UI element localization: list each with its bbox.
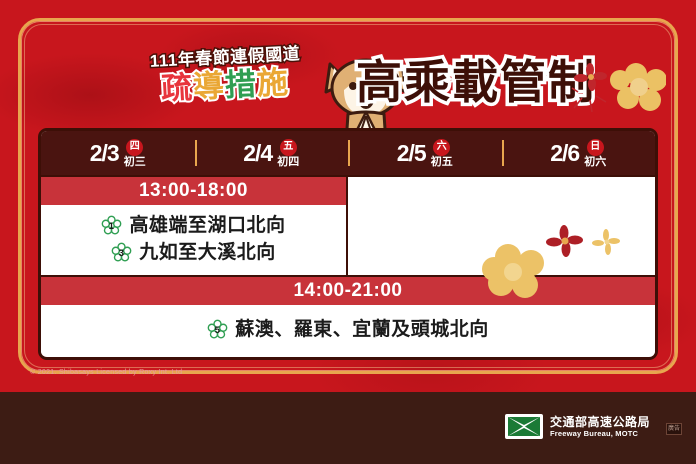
title-group-left: 111年春節連假國道 疏導措施 bbox=[130, 48, 320, 103]
date-cell-1: 2/4 五 初四 bbox=[195, 131, 349, 175]
svg-text:5: 5 bbox=[215, 325, 221, 336]
agency-logo-text: 交通部高速公路局 Freeway Bureau, MOTC bbox=[550, 415, 650, 439]
route-item: 5 蘇澳、羅東、宜蘭及頭城北向 bbox=[41, 316, 655, 343]
route-label: 高雄端至湖口北向 bbox=[129, 212, 285, 239]
poster-header: 111年春節連假國道 疏導措施 高乘載管制 bbox=[26, 26, 670, 126]
ad-badge: 廣告 bbox=[666, 423, 682, 435]
agency-logo: 交通部高速公路局 Freeway Bureau, MOTC bbox=[505, 414, 650, 439]
svg-text:3: 3 bbox=[119, 248, 125, 259]
poster-background: 111年春節連假國道 疏導措施 高乘載管制 bbox=[0, 0, 696, 392]
weekday-badge: 四 bbox=[126, 139, 143, 156]
date-number: 2/3 bbox=[90, 140, 119, 167]
routes-row-one: 1 高雄端至湖口北向 3 九如至大溪北向 bbox=[41, 205, 655, 275]
date-cell-2: 2/5 六 初五 bbox=[348, 131, 502, 175]
copyright-notice: © 2021. Shibasays Licensed by Roxy Int. … bbox=[30, 369, 182, 376]
weekday-badge: 五 bbox=[280, 139, 297, 156]
agency-name-zh: 交通部高速公路局 bbox=[550, 415, 650, 429]
routes-list-two: 5 蘇澳、羅東、宜蘭及頭城北向 bbox=[41, 305, 655, 356]
lunar-date: 初五 bbox=[431, 157, 453, 168]
date-meta: 日 初六 bbox=[584, 139, 606, 168]
lunar-date: 初六 bbox=[584, 157, 606, 168]
route-item: 3 九如至大溪北向 bbox=[41, 239, 346, 266]
lunar-date: 初三 bbox=[124, 157, 146, 168]
weekday-badge: 六 bbox=[433, 139, 450, 156]
svg-text:1: 1 bbox=[109, 221, 115, 232]
route-label: 九如至大溪北向 bbox=[139, 239, 276, 266]
plum-blossom-decor-icon bbox=[476, 223, 626, 301]
routes-list-one: 1 高雄端至湖口北向 3 九如至大溪北向 bbox=[41, 205, 348, 275]
restriction-section-one: 13:00-18:00 1 高雄端至湖口北向 bbox=[41, 175, 655, 275]
date-cell-0: 2/3 四 初三 bbox=[41, 131, 195, 175]
route-label: 蘇澳、羅東、宜蘭及頭城北向 bbox=[235, 316, 489, 343]
title-char-4: 施 bbox=[256, 65, 290, 102]
poster-main-title: 高乘載管制 bbox=[356, 54, 596, 110]
plum-blossom-decor-icon bbox=[570, 52, 666, 122]
time-band-one: 13:00-18:00 bbox=[41, 177, 348, 205]
route-number-badge-icon: 1 bbox=[101, 215, 122, 236]
footer-bar: 交通部高速公路局 Freeway Bureau, MOTC 廣告 bbox=[0, 392, 696, 464]
title-char-2: 導 bbox=[192, 68, 226, 105]
date-header-row: 2/3 四 初三 2/4 五 初四 2/5 六 初五 bbox=[41, 131, 655, 175]
date-meta: 五 初四 bbox=[277, 139, 299, 168]
date-meta: 四 初三 bbox=[124, 139, 146, 168]
route-item: 1 高雄端至湖口北向 bbox=[41, 212, 346, 239]
freeway-bureau-logo-icon bbox=[505, 414, 543, 439]
restriction-table: 2/3 四 初三 2/4 五 初四 2/5 六 初五 bbox=[38, 128, 658, 360]
date-cell-3: 2/6 日 初六 bbox=[502, 131, 656, 175]
time-band-row-one: 13:00-18:00 bbox=[41, 177, 655, 205]
lunar-date: 初四 bbox=[277, 157, 299, 168]
empty-panel bbox=[348, 205, 655, 275]
date-number: 2/5 bbox=[397, 140, 426, 167]
agency-name-en: Freeway Bureau, MOTC bbox=[550, 429, 650, 439]
date-number: 2/6 bbox=[550, 140, 579, 167]
route-number-badge-icon: 5 bbox=[207, 319, 228, 340]
routes-row-two: 5 蘇澳、羅東、宜蘭及頭城北向 bbox=[41, 305, 655, 356]
date-number: 2/4 bbox=[243, 140, 272, 167]
date-meta: 六 初五 bbox=[431, 139, 453, 168]
title-char-3: 措 bbox=[224, 66, 258, 103]
route-number-badge-icon: 3 bbox=[111, 242, 132, 263]
title-char-1: 疏 bbox=[160, 70, 194, 107]
empty-panel-band bbox=[348, 177, 655, 205]
weekday-badge: 日 bbox=[587, 139, 604, 156]
